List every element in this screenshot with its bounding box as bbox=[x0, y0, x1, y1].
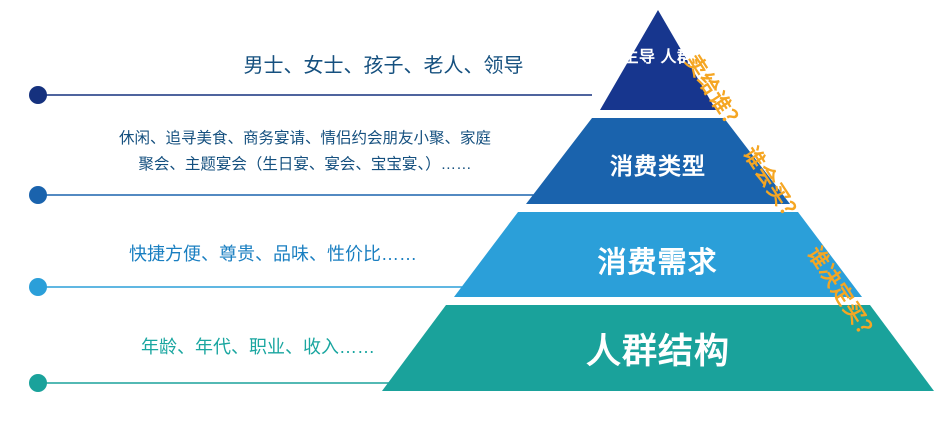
pyramid-tier-1 bbox=[600, 10, 716, 110]
callout-consumption-demand: 快捷方便、尊贵、品味、性价比…… bbox=[68, 241, 478, 267]
pyramid-diagram: 主导 人群 消费类型 消费需求 人群结构 男士、女士、孩子、老人、领导 休闲、追… bbox=[0, 0, 947, 421]
callout-consumption-type: 休闲、追寻美食、商务宴请、情侣约会朋友小聚、家庭 聚会、主题宴会（生日宴、宴会、… bbox=[70, 126, 540, 178]
connector-dot-2 bbox=[29, 186, 47, 204]
connector-dot-3 bbox=[29, 278, 47, 296]
callout-dominant-group: 男士、女士、孩子、老人、领导 bbox=[176, 52, 591, 80]
pyramid-tier-4 bbox=[382, 305, 934, 391]
pyramid-tier-3 bbox=[454, 212, 862, 297]
connector-dot-4 bbox=[29, 374, 47, 392]
connector-dot-1 bbox=[29, 86, 47, 104]
pyramid-tier-2 bbox=[526, 118, 790, 204]
callout-crowd-structure: 年龄、年代、职业、收入…… bbox=[88, 334, 428, 360]
